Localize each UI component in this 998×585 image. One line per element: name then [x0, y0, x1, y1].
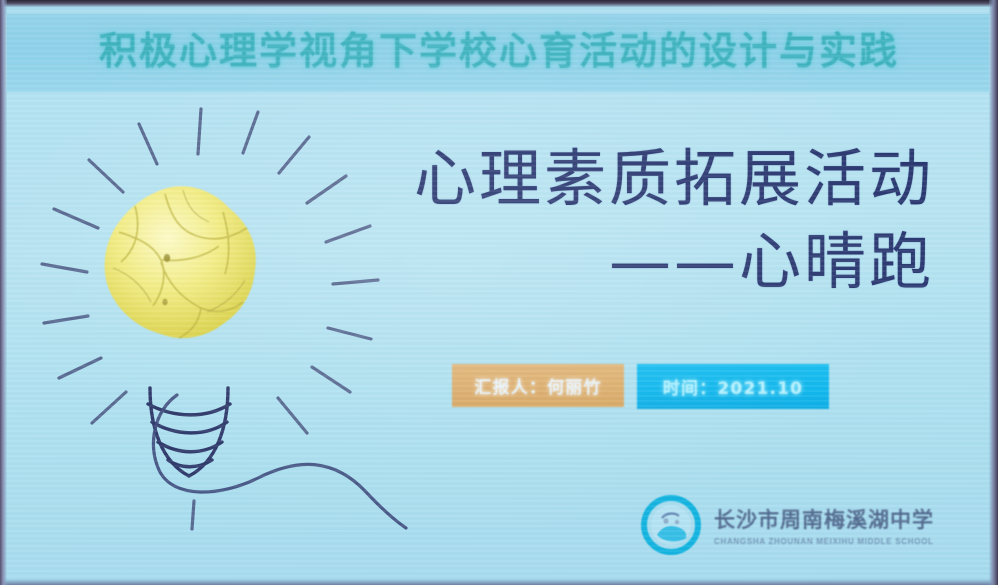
frame-edge-right [989, 0, 998, 585]
school-logo-text: 长沙市周南梅溪湖中学 CHANGSHA ZHOUNAN MEIXIHU MIDD… [714, 504, 934, 546]
school-emblem-icon [640, 494, 702, 556]
crumpled-paper-ball [95, 182, 265, 347]
header-title: 积极心理学视角下学校心育活动的设计与实践 [0, 20, 998, 75]
school-name-cn: 长沙市周南梅溪湖中学 [714, 504, 934, 534]
presentation-slide: 积极心理学视角下学校心育活动的设计与实践 [0, 0, 998, 585]
sub-title: ——心晴跑 [388, 225, 934, 298]
date-badge: 时间：2021.10 [637, 364, 829, 409]
title-block: 心理素质拓展活动 ——心晴跑 [388, 142, 934, 298]
school-logo: 长沙市周南梅溪湖中学 CHANGSHA ZHOUNAN MEIXIHU MIDD… [640, 494, 934, 556]
main-title: 心理素质拓展活动 [388, 142, 934, 215]
meta-badges-row: 汇报人：何丽竹 时间：2021.10 [452, 364, 829, 409]
bulb-base-icon [148, 388, 230, 476]
frame-edge-left [0, 0, 7, 585]
school-name-en: CHANGSHA ZHOUNAN MEIXIHU MIDDLE SCHOOL [714, 537, 934, 546]
frame-edge-bottom [0, 579, 998, 585]
frame-edge-top [0, 0, 998, 7]
presenter-badge: 汇报人：何丽竹 [452, 364, 624, 407]
